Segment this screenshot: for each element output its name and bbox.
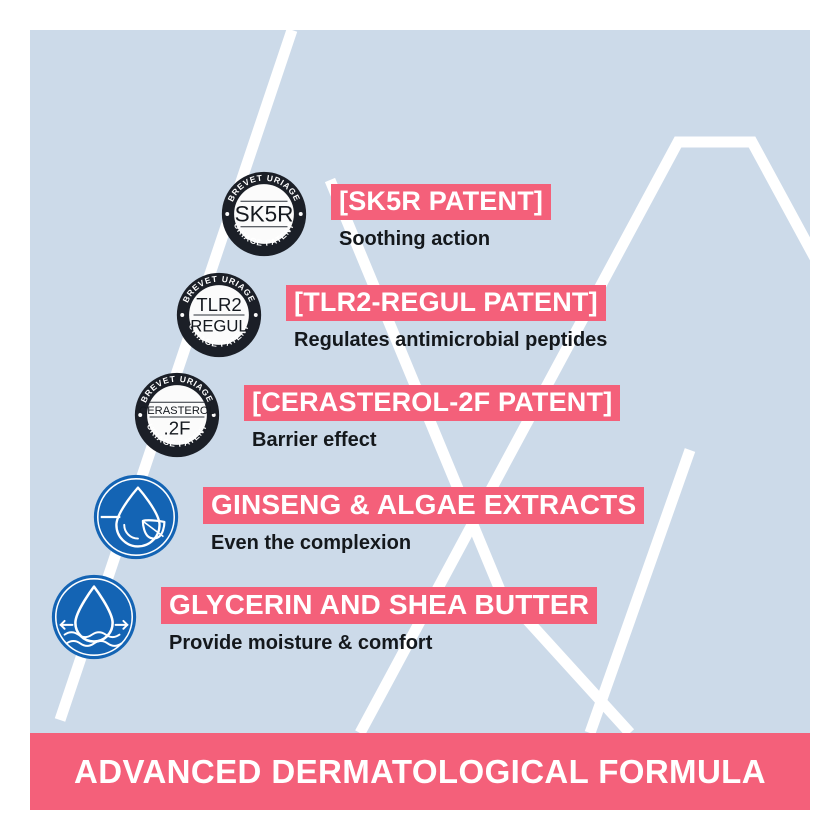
seal-secondary-label: .2F (164, 418, 191, 439)
texts-glycerin: GLYCERIN AND SHEA BUTTER Provide moistur… (161, 587, 597, 653)
ingredient-row-sk5r: BREVET URIAGE URIAGE PATENT SK5R [SK5R P… (215, 165, 551, 268)
badge-wrap-tlr2: BREVET URIAGE URIAGE PATENT TLR2 REGUL (170, 266, 268, 369)
row-subtitle-sk5r: Soothing action (339, 229, 490, 249)
ingredient-row-tlr2: BREVET URIAGE URIAGE PATENT TLR2 REGUL [… (170, 266, 607, 369)
row-title-sk5r: [SK5R PATENT] (331, 184, 551, 220)
row-title-cerasterol: [CERASTEROL-2F PATENT] (244, 385, 620, 421)
row-subtitle-glycerin: Provide moisture & comfort (169, 633, 432, 653)
infographic-root: BREVET URIAGE URIAGE PATENT SK5R [SK5R P… (0, 0, 840, 840)
ingredient-row-ginseng: GINSENG & ALGAE EXTRACTS Even the comple… (87, 468, 644, 571)
cerasterol-2f-patent-seal: BREVET URIAGE URIAGE PATENT CERASTEROL .… (128, 366, 226, 464)
ingredient-row-glycerin: GLYCERIN AND SHEA BUTTER Provide moistur… (45, 568, 597, 671)
sk5r-patent-seal: BREVET URIAGE URIAGE PATENT SK5R (215, 165, 313, 263)
badge-wrap-cerasterol: BREVET URIAGE URIAGE PATENT CERASTEROL .… (128, 366, 226, 469)
badge-wrap-glycerin (45, 568, 143, 671)
seal-primary-label: CERASTEROL (139, 405, 215, 417)
texts-tlr2: [TLR2-REGUL PATENT] Regulates antimicrob… (286, 285, 607, 350)
footer-banner-text: ADVANCED DERMATOLOGICAL FORMULA (74, 753, 766, 791)
badge-wrap-sk5r: BREVET URIAGE URIAGE PATENT SK5R (215, 165, 313, 268)
row-subtitle-ginseng: Even the complexion (211, 533, 411, 553)
ingredient-row-cerasterol: BREVET URIAGE URIAGE PATENT CERASTEROL .… (128, 366, 620, 469)
droplet-hydration-icon (45, 568, 143, 666)
seal-primary-label: TLR2 (196, 294, 242, 315)
tlr2-regul-patent-seal: BREVET URIAGE URIAGE PATENT TLR2 REGUL (170, 266, 268, 364)
badge-wrap-ginseng (87, 468, 185, 571)
seal-secondary-label: REGUL (190, 317, 247, 336)
row-title-ginseng: GINSENG & ALGAE EXTRACTS (203, 487, 644, 524)
seal-primary-label: SK5R (235, 201, 294, 226)
row-subtitle-cerasterol: Barrier effect (252, 430, 377, 450)
row-title-glycerin: GLYCERIN AND SHEA BUTTER (161, 587, 597, 624)
droplet-leaf-icon (87, 468, 185, 566)
row-subtitle-tlr2: Regulates antimicrobial peptides (294, 330, 607, 350)
ingredient-rows: BREVET URIAGE URIAGE PATENT SK5R [SK5R P… (0, 0, 840, 733)
footer-banner: ADVANCED DERMATOLOGICAL FORMULA (30, 733, 810, 810)
row-title-tlr2: [TLR2-REGUL PATENT] (286, 285, 606, 321)
texts-cerasterol: [CERASTEROL-2F PATENT] Barrier effect (244, 385, 620, 450)
texts-ginseng: GINSENG & ALGAE EXTRACTS Even the comple… (203, 487, 644, 553)
texts-sk5r: [SK5R PATENT] Soothing action (331, 184, 551, 249)
